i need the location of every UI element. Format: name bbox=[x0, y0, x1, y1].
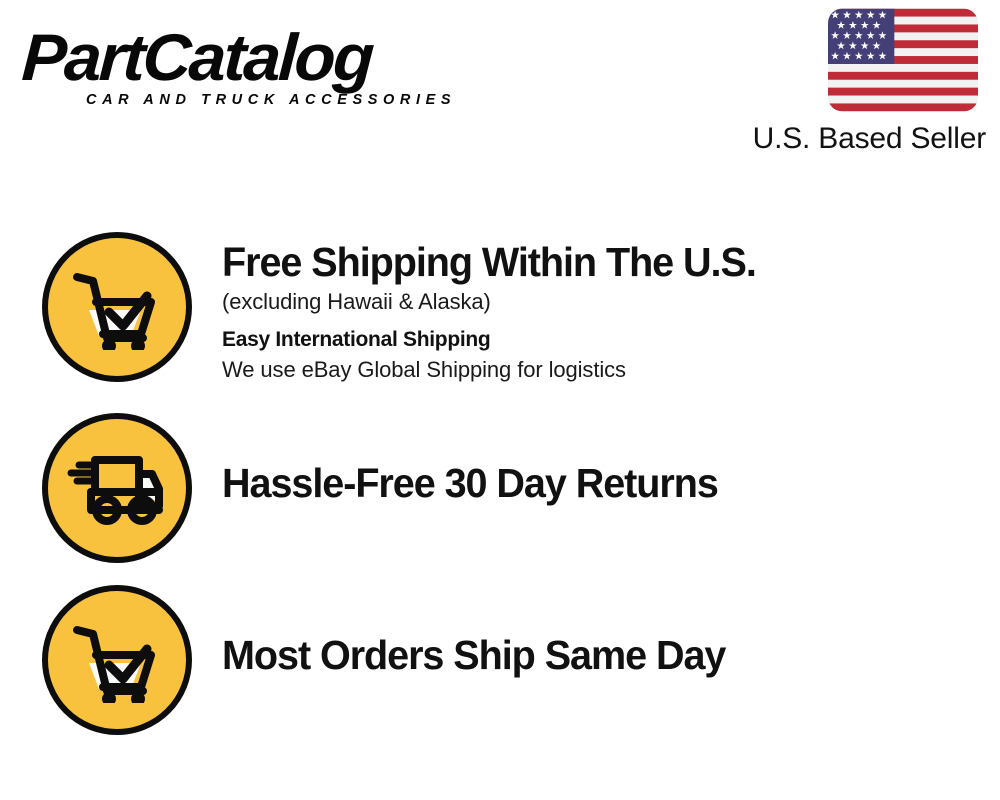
feature-title: Free Shipping Within The U.S. bbox=[222, 238, 973, 286]
feature-row: Free Shipping Within The U.S. (excluding… bbox=[0, 232, 1000, 385]
shopping-cart-check-icon bbox=[42, 232, 192, 382]
page-header: PartCatalog CAR AND TRUCK ACCESSORIES bbox=[0, 0, 1000, 170]
brand-wordmark: PartCatalog bbox=[20, 22, 503, 92]
feature-row: Most Orders Ship Same Day bbox=[0, 585, 1000, 735]
feature-text-block: Hassle-Free 30 Day Returns bbox=[192, 413, 1000, 507]
brand-logo[interactable]: PartCatalog CAR AND TRUCK ACCESSORIES bbox=[24, 22, 494, 114]
feature-title: Hassle-Free 30 Day Returns bbox=[222, 459, 973, 507]
feature-text-block: Free Shipping Within The U.S. (excluding… bbox=[192, 232, 1000, 385]
feature-row: Hassle-Free 30 Day Returns bbox=[0, 413, 1000, 563]
feature-subtitle: (excluding Hawaii & Alaska) bbox=[222, 286, 1000, 317]
brand-tagline: CAR AND TRUCK ACCESSORIES bbox=[86, 92, 456, 108]
delivery-truck-icon bbox=[42, 413, 192, 563]
feature-subtitle-note: We use eBay Global Shipping for logistic… bbox=[222, 354, 1000, 385]
feature-subtitle-strong: Easy International Shipping bbox=[222, 326, 1000, 354]
feature-title: Most Orders Ship Same Day bbox=[222, 631, 973, 679]
us-based-seller-badge: U.S. Based Seller bbox=[710, 8, 990, 156]
us-based-seller-label: U.S. Based Seller bbox=[710, 122, 986, 156]
feature-text-block: Most Orders Ship Same Day bbox=[192, 585, 1000, 679]
shopping-cart-check-icon bbox=[42, 585, 192, 735]
us-flag-icon bbox=[828, 8, 978, 112]
